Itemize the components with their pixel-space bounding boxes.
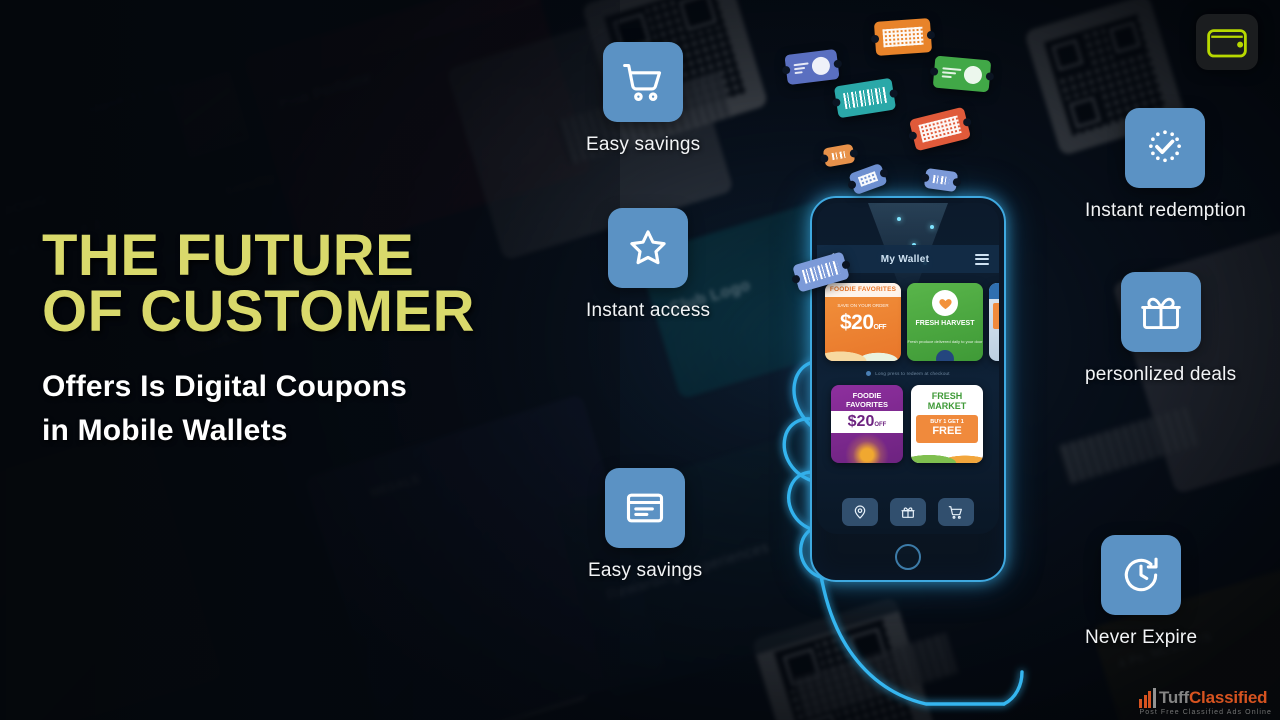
gift-icon	[900, 504, 916, 520]
wallet-icon	[1206, 25, 1248, 59]
coupon-card-foodie-purple[interactable]: FOODIE FAVORITES $20OFF	[831, 385, 903, 463]
coupon-glow-effect	[845, 433, 889, 463]
feature-label: personlized deals	[1085, 364, 1236, 386]
coupon-subtext: SAVE ON YOUR ORDER	[825, 303, 901, 308]
coupon-amount: $20OFF	[825, 311, 901, 335]
feature-instant-redemption[interactable]: Instant redemption	[1085, 108, 1246, 222]
feature-tile	[1125, 108, 1205, 188]
coupon-amount-unit: OFF	[874, 324, 887, 331]
bg-gold-card	[0, 424, 223, 720]
coupon-edge-band	[989, 283, 999, 299]
shopping-cart-icon	[948, 504, 964, 520]
wallet-logo-badge[interactable]	[1196, 14, 1258, 70]
coupon-cards-bottom-row: FOODIE FAVORITES $20OFF FRESH MARKET BUY…	[831, 385, 983, 463]
star-icon	[626, 226, 670, 270]
history-clock-icon	[1119, 553, 1163, 597]
watermark-brand-part1: Tuff	[1159, 688, 1189, 707]
coupon-brand-band: FOODIE FAVORITES	[825, 283, 901, 297]
location-pin-icon	[852, 504, 868, 520]
document-list-icon	[623, 486, 667, 530]
coupon-badge-dot	[936, 350, 954, 361]
shopping-cart-icon	[621, 60, 665, 104]
heart-badge-icon	[932, 290, 958, 316]
feature-personalized-deals[interactable]: personlized deals	[1085, 272, 1236, 386]
redeem-hint-row: Long press to redeem at checkout	[817, 371, 999, 376]
hint-dot-icon	[866, 371, 871, 376]
coupon-amount-value: $20	[848, 413, 875, 430]
watermark-tagline: Post Free Classified Ads Online	[1139, 709, 1272, 716]
coupon-brand-line-1: FRESH	[911, 391, 983, 401]
feature-label: Instant redemption	[1085, 200, 1246, 222]
heart-icon	[938, 296, 953, 311]
coupon-card-partial-edge[interactable]	[989, 283, 999, 361]
coupon-brand-name: FOODIE FAVORITES	[825, 283, 901, 297]
coupon-ticket-lightblue[interactable]	[924, 168, 958, 192]
headline-block: THE FUTURE OF CUSTOMER Offers Is Digital…	[42, 228, 475, 452]
check-clock-icon	[1143, 126, 1187, 170]
site-watermark: TuffClassified Post Free Classified Ads …	[1139, 688, 1272, 716]
coupon-brand-name: FOODIE FAVORITES	[831, 391, 903, 409]
feature-instant-access[interactable]: Instant access	[586, 208, 710, 322]
feature-label: Instant access	[586, 300, 710, 322]
coupon-amount-unit: OFF	[874, 422, 886, 428]
coupon-ticket-small-orange[interactable]	[823, 144, 856, 168]
headline-line-2: OF CUSTOMER	[42, 284, 475, 340]
bg-card-validity: Everyday	[224, 172, 275, 198]
feature-tile	[608, 208, 688, 288]
coupon-ticket-teal[interactable]	[834, 78, 896, 119]
poster-canvas: STRONG Patsy PassKit NAME March 31, 2022…	[0, 0, 1280, 720]
nav-button-nearby[interactable]	[842, 498, 878, 526]
subtitle-line-1: Offers Is Digital Coupons	[42, 365, 475, 409]
hamburger-menu-icon[interactable]	[975, 251, 989, 267]
coupon-food-image	[825, 339, 901, 361]
coupon-ticket-blue[interactable]	[784, 49, 839, 85]
coupon-ticket-red[interactable]	[909, 107, 971, 152]
coupon-ticket-green[interactable]	[933, 56, 992, 93]
coupon-offer-banner: BUY 1 GET 1 FREE	[916, 415, 978, 443]
coupon-ticket-orange[interactable]	[874, 18, 932, 56]
bg-card-strong-label: STRONG	[0, 191, 50, 227]
bg-megals-label: MEGALS	[370, 473, 421, 499]
nav-button-offers[interactable]	[890, 498, 926, 526]
subtitle-line-2: in Mobile Wallets	[42, 409, 475, 453]
feature-tile	[1121, 272, 1201, 352]
coupon-description: Fresh produce delivered daily to your do…	[907, 339, 983, 345]
nav-button-cart[interactable]	[938, 498, 974, 526]
coupon-edge-body	[993, 303, 999, 329]
coupon-card-fresh-market[interactable]: FRESH MARKET BUY 1 GET 1 FREE	[911, 385, 983, 463]
bottom-nav-bar	[817, 498, 999, 526]
coupon-brand-name: FRESH HARVEST	[907, 319, 983, 328]
coupon-amount-strip: $20OFF	[831, 411, 903, 433]
phone-screen: My Wallet FOODIE FAVORITES SAVE ON YOUR …	[817, 203, 999, 534]
feature-label: Never Expire	[1085, 627, 1197, 649]
coupon-produce-image	[911, 447, 983, 463]
bg-card-date: March 31, 2022	[86, 75, 183, 118]
feature-never-expire[interactable]: Never Expire	[1085, 535, 1197, 649]
coupon-card-foodie-orange[interactable]: FOODIE FAVORITES SAVE ON YOUR ORDER $20O…	[825, 283, 901, 361]
coupon-amount-value: $20	[840, 311, 874, 334]
coupon-brand-line-2: MARKET	[911, 401, 983, 411]
feature-easy-savings-cart[interactable]: Easy savings	[586, 42, 700, 156]
watermark-brand-part2: Classified	[1189, 688, 1267, 707]
feature-tile	[605, 468, 685, 548]
feature-label: Easy savings	[586, 134, 700, 156]
coupon-cards-top-row: FOODIE FAVORITES SAVE ON YOUR ORDER $20O…	[825, 283, 999, 361]
feature-tile	[603, 42, 683, 122]
spark-dot	[930, 225, 934, 229]
coupon-offer-line-2: FREE	[916, 425, 978, 437]
headline-subtitle: Offers Is Digital Coupons in Mobile Wall…	[42, 365, 475, 452]
app-title: My Wallet	[835, 254, 975, 265]
feature-label: Easy savings	[588, 560, 702, 582]
feature-easy-savings-list[interactable]: Easy savings	[588, 468, 702, 582]
page-title: THE FUTURE OF CUSTOMER	[42, 228, 475, 339]
bars-logo-icon	[1139, 690, 1156, 708]
home-button[interactable]	[895, 544, 921, 570]
gift-icon	[1139, 290, 1183, 334]
feature-tile	[1101, 535, 1181, 615]
watermark-brand: TuffClassified	[1159, 688, 1267, 708]
hint-text: Long press to redeem at checkout	[875, 371, 949, 376]
coupon-card-fresh-harvest[interactable]: FRESH HARVEST Fresh produce delivered da…	[907, 283, 983, 361]
